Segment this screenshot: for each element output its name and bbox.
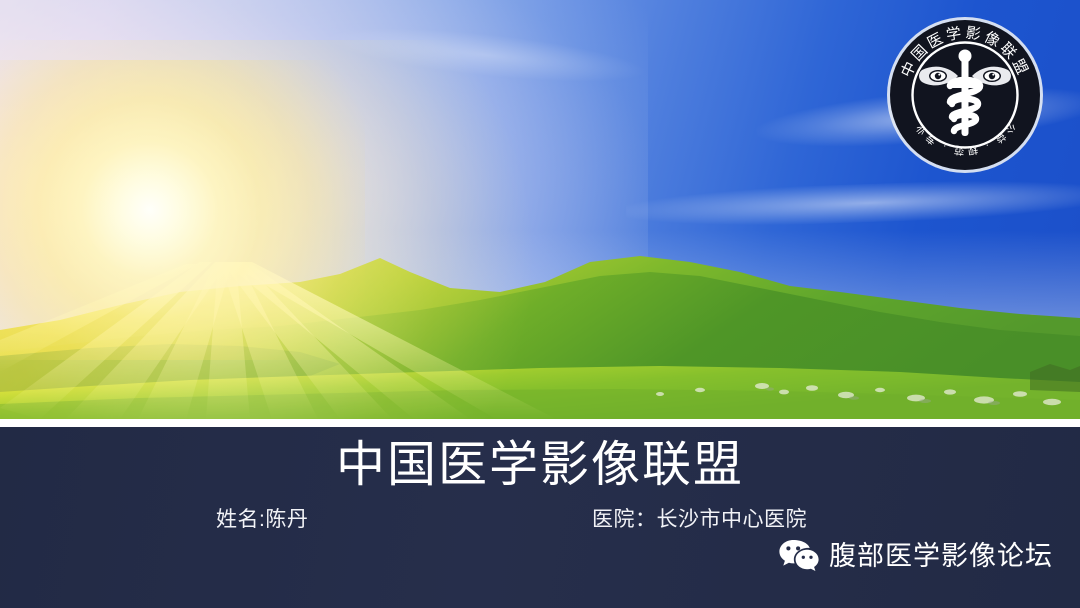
- presentation-slide: 中国医学影像联盟 公益 · 规范 · 专业: [0, 0, 1080, 608]
- wechat-icon: [778, 538, 820, 574]
- wechat-watermark: 腹部医学影像论坛: [778, 538, 1053, 574]
- title-banner: 中国医学影像联盟 姓名:陈丹 医院：长沙市中心医院: [0, 427, 1080, 608]
- photo-banner-separator: [0, 419, 1080, 427]
- presenter-name: 姓名:陈丹: [216, 506, 308, 534]
- page-title: 中国医学影像联盟: [0, 436, 1080, 494]
- wechat-watermark-text: 腹部医学影像论坛: [829, 539, 1053, 573]
- alliance-logo: 中国医学影像联盟 公益 · 规范 · 专业: [884, 14, 1046, 176]
- presenter-hospital: 医院：长沙市中心医院: [592, 506, 807, 534]
